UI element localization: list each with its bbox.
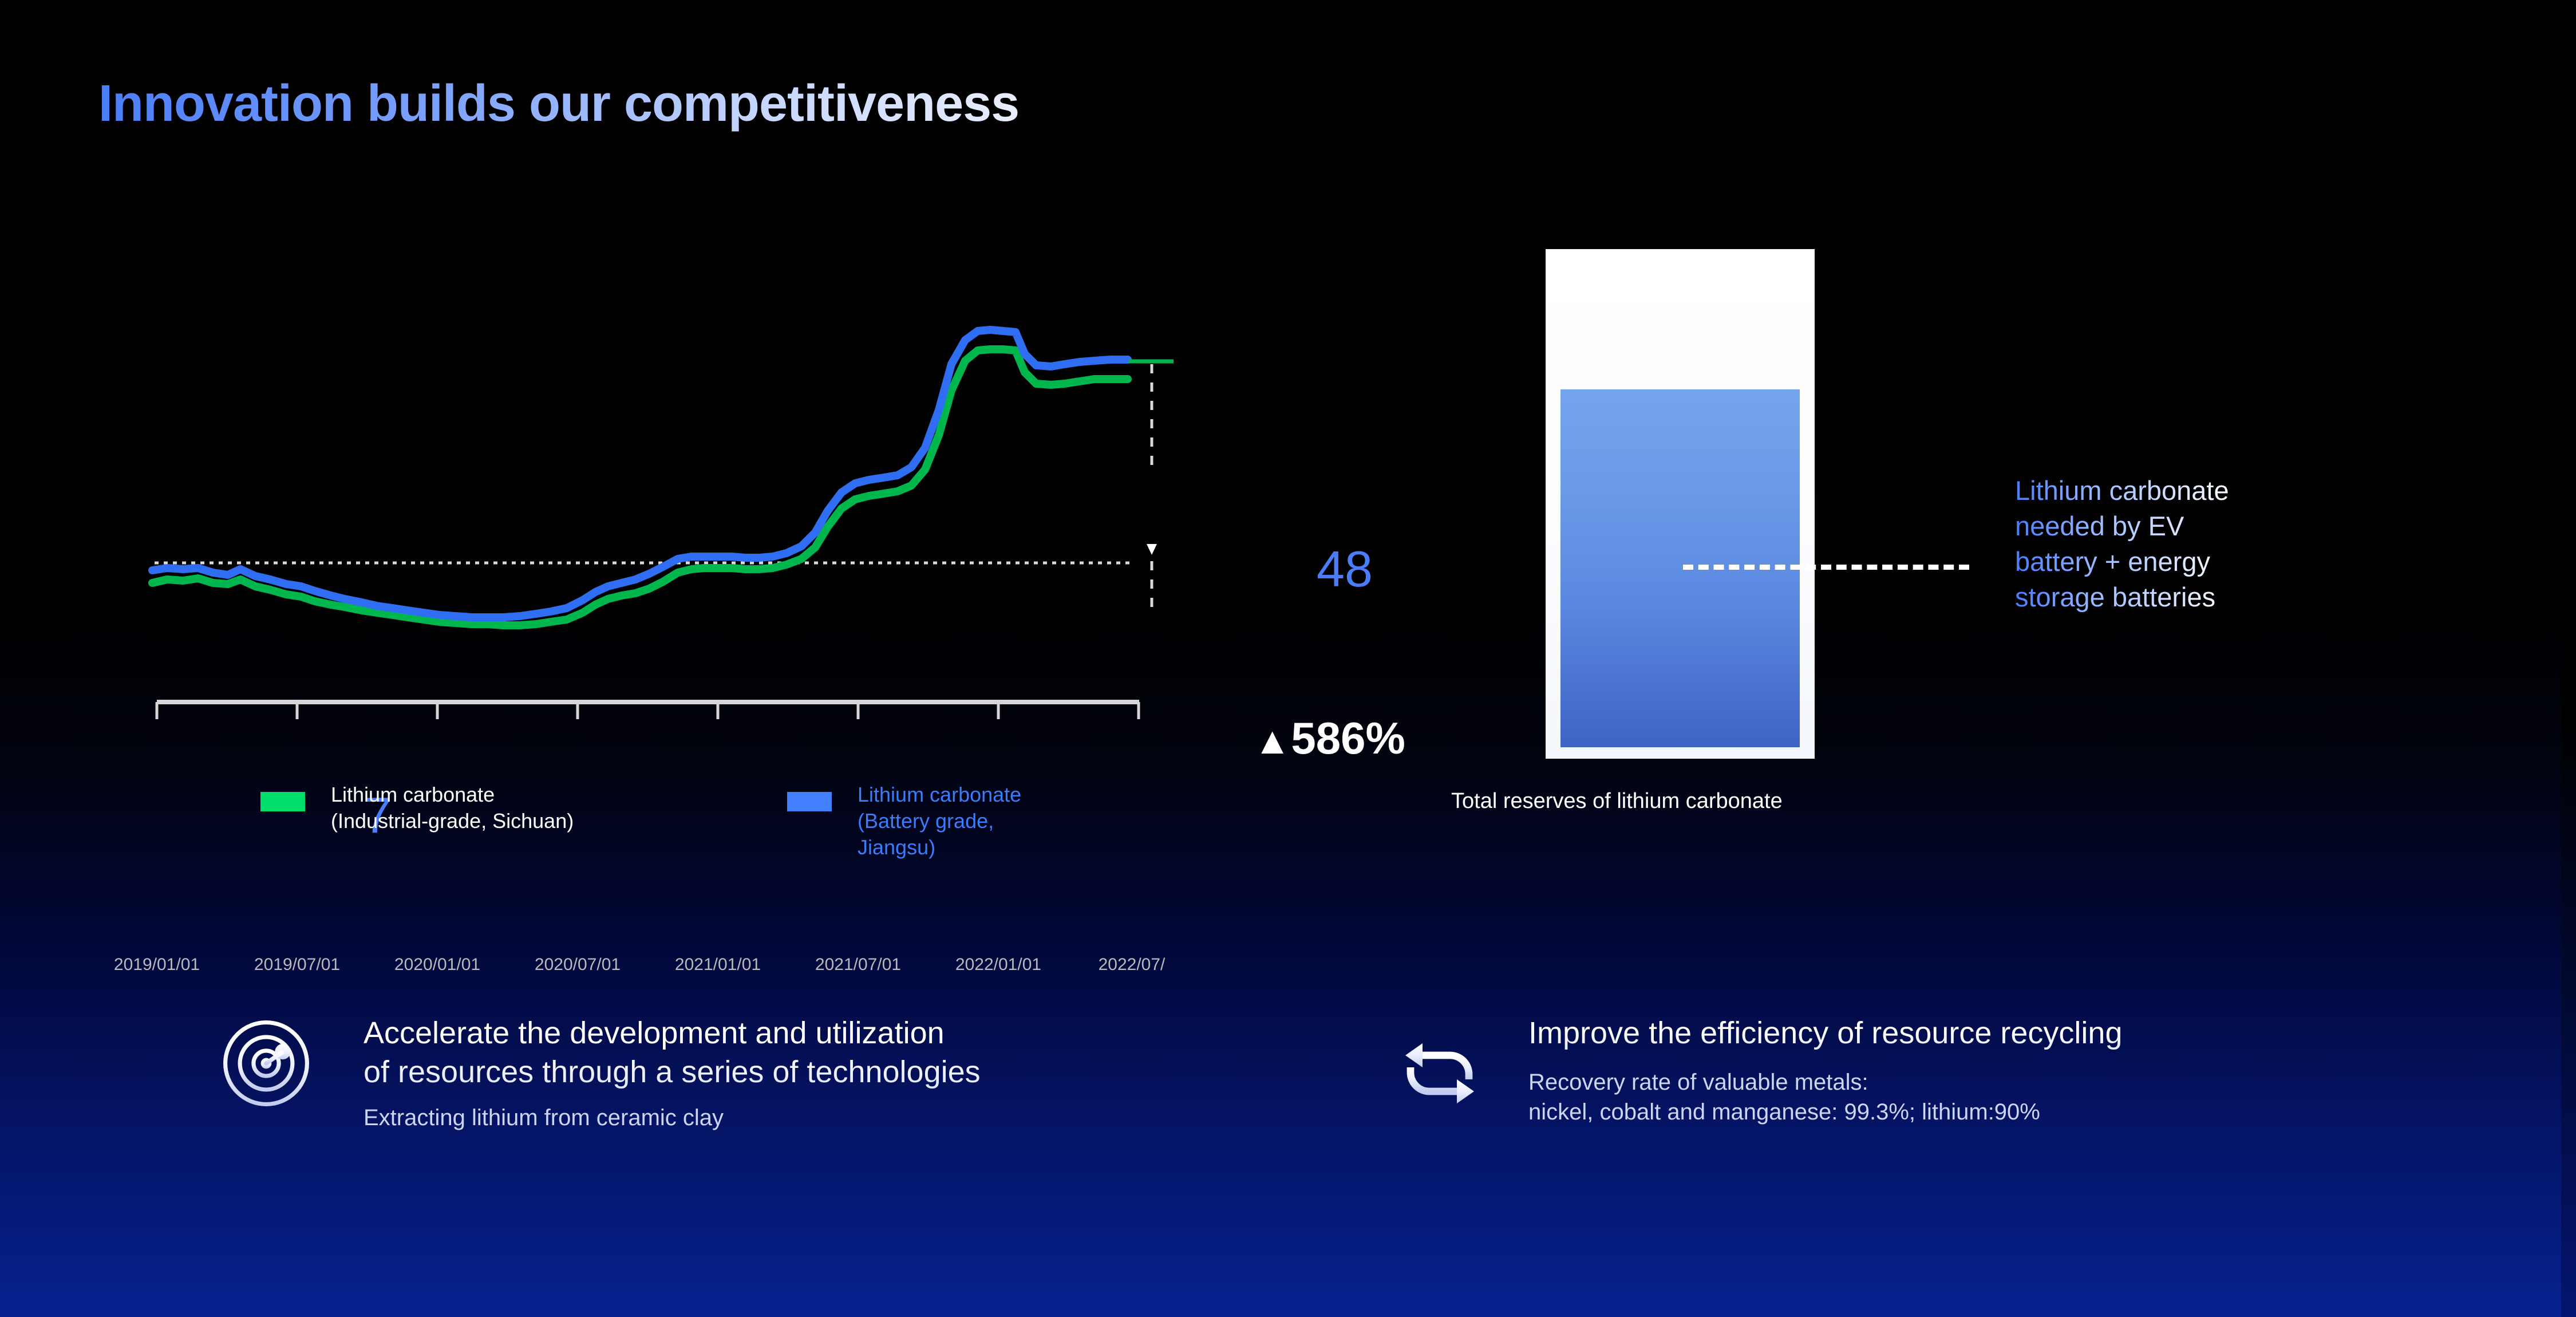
growth-up-triangle-icon: ▲ [1254,719,1291,762]
feature-left-body: Accelerate the development and utilizati… [364,1014,981,1133]
x-axis-ticks [157,702,1139,719]
x-tick-label: 2020/01/01 [394,955,480,975]
feature-right-body: Improve the efficiency of resource recyc… [1528,1014,2122,1127]
page-title: Innovation builds our competitiveness [98,74,1019,133]
feature-right-subtext: Recovery rate of valuable metals: nickel… [1528,1067,2122,1127]
x-tick-label: 2020/07/01 [535,955,621,975]
series-line-battery-blue [152,330,1128,617]
reserves-marker-dashed-line [1683,565,1969,570]
feature-accelerate-development[interactable]: Accelerate the development and utilizati… [218,1014,981,1133]
feature-right-heading: Improve the efficiency of resource recyc… [1528,1014,2122,1052]
legend-label-industrial: Lithium carbonate (Industrial-grade, Sic… [331,782,574,834]
legend-swatch-blue [787,792,832,811]
x-tick-label: 2021/07/01 [815,955,901,975]
price-line-chart: 7 48 ▲586% 2019/01/01 2019/07/01 2020/01… [143,240,1288,870]
recycle-loop-icon [1397,1030,1483,1115]
legend-label-battery: Lithium carbonate (Battery grade, Jiangs… [858,782,1062,861]
line-chart-svg [143,240,1288,870]
legend-swatch-green [260,792,305,811]
chart-end-value-label: 48 [1317,544,1373,594]
x-tick-label: 2019/01/01 [114,955,200,975]
legend-item-battery[interactable]: Lithium carbonate (Battery grade, Jiangs… [787,782,1062,861]
x-tick-label: 2019/07/01 [254,955,340,975]
growth-badge-value: 586% [1291,713,1405,763]
feature-resource-recycling[interactable]: Improve the efficiency of resource recyc… [1397,1014,2122,1127]
x-tick-label: 2022/01/01 [955,955,1041,975]
radar-target-icon [218,1015,315,1112]
x-tick-label: 2021/01/01 [675,955,761,975]
chart-legend: Lithium carbonate (Industrial-grade, Sic… [260,782,1062,850]
feature-left-subtext: Extracting lithium from ceramic clay [364,1103,981,1133]
right-edge-shade [2561,0,2576,1317]
reserves-annotation-text: Lithium carbonate needed by EV battery +… [2015,473,2229,615]
feature-left-heading: Accelerate the development and utilizati… [364,1014,981,1091]
reserves-bar-container [1546,249,1815,759]
legend-item-industrial[interactable]: Lithium carbonate (Industrial-grade, Sic… [260,782,574,834]
growth-badge: ▲586% [1254,716,1405,760]
slide-canvas: Innovation builds our competitiveness [0,0,2576,1317]
reserves-caption: Total reserves of lithium carbonate [1451,789,1783,814]
x-tick-label: 2022/07/ [1099,955,1165,975]
